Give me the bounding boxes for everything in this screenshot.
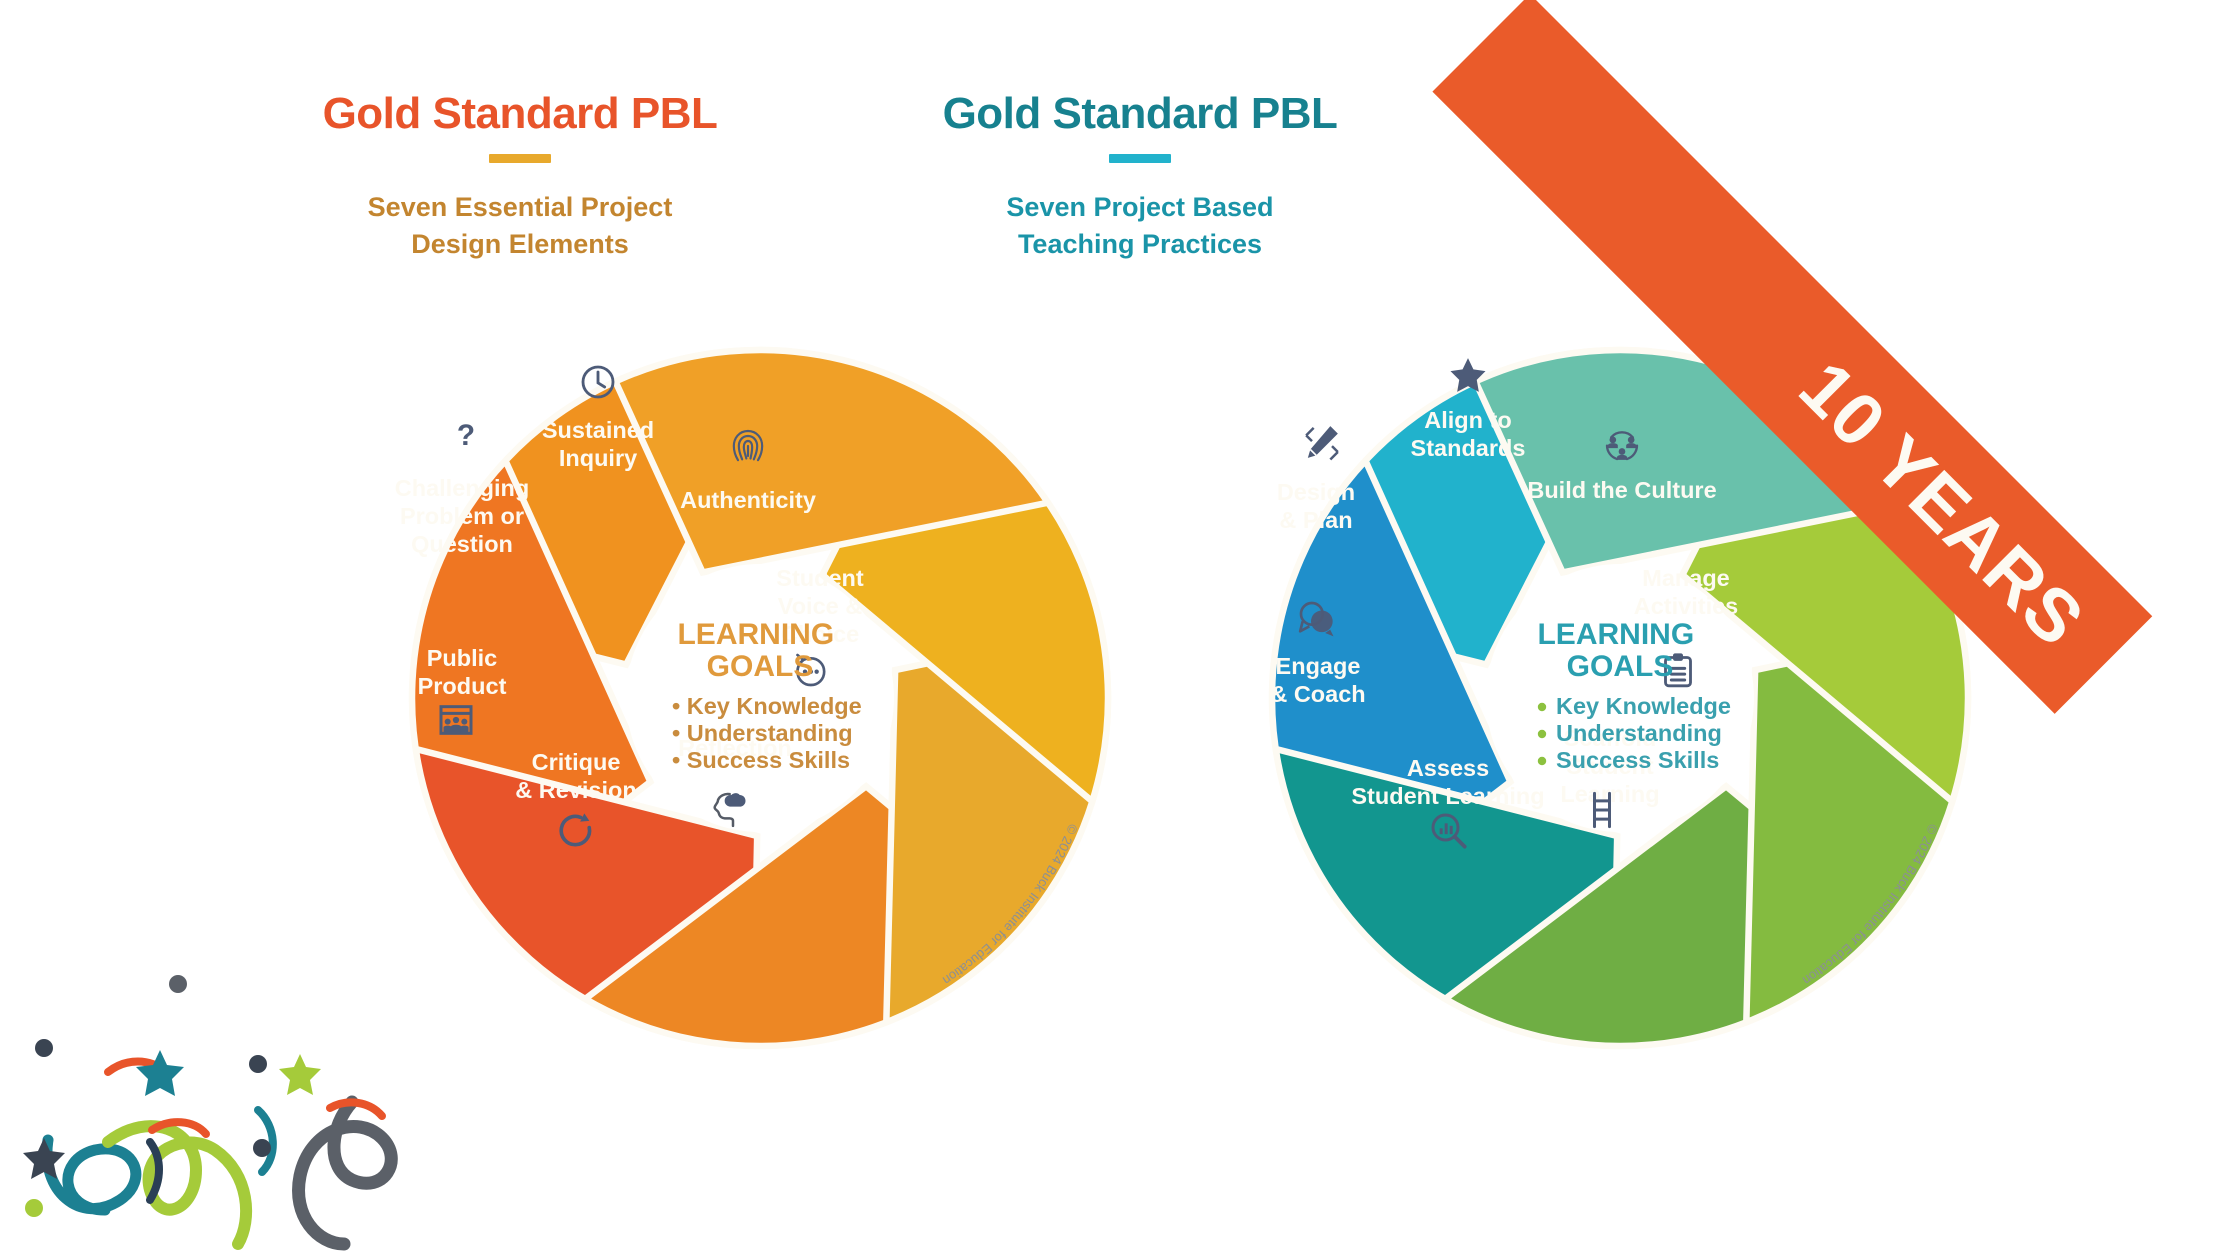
right-wheel-title: Gold Standard PBL (790, 90, 1490, 138)
segment-label: Build the Culture (1527, 477, 1716, 503)
right-wheel-subtitle: Seven Project Based Teaching Practices (790, 189, 1490, 262)
left-wheel-heading: Gold Standard PBL Seven Essential Projec… (170, 90, 870, 262)
pencil-ruler-icon (1306, 426, 1338, 459)
right-subtitle-line-1: Seven Project Based (1006, 192, 1273, 222)
center-bullet: • Key Knowledge (672, 693, 862, 719)
segment-label: ChallengingProblem orQuestion (395, 475, 529, 557)
confetti-decoration (0, 880, 520, 1260)
center-bullet: Understanding (1556, 720, 1722, 746)
center-bullet-dot (1538, 730, 1546, 738)
center-bullet: Key Knowledge (1556, 693, 1731, 719)
right-title-rule (1109, 154, 1171, 163)
left-wheel-title: Gold Standard PBL (170, 90, 870, 138)
infographic-canvas: Gold Standard PBL Seven Essential Projec… (0, 0, 2240, 1260)
center-bullet: • Understanding (672, 720, 853, 746)
segment-label: Authenticity (680, 487, 816, 513)
svg-text:?: ? (457, 419, 475, 452)
left-title-rule (489, 154, 551, 163)
center-bullet: • Success Skills (672, 747, 850, 773)
center-bullet: Success Skills (1556, 747, 1719, 773)
center-bullet-dot (1538, 703, 1546, 711)
right-wheel-heading: Gold Standard PBL Seven Project Based Te… (790, 90, 1490, 262)
left-wheel-subtitle: Seven Essential Project Design Elements (170, 189, 870, 262)
left-subtitle-line-1: Seven Essential Project (368, 192, 673, 222)
center-bullet-dot (1538, 757, 1546, 765)
left-subtitle-line-2: Design Elements (411, 229, 629, 259)
right-subtitle-line-2: Teaching Practices (1018, 229, 1262, 259)
question-mark-icon: ? (457, 419, 475, 452)
